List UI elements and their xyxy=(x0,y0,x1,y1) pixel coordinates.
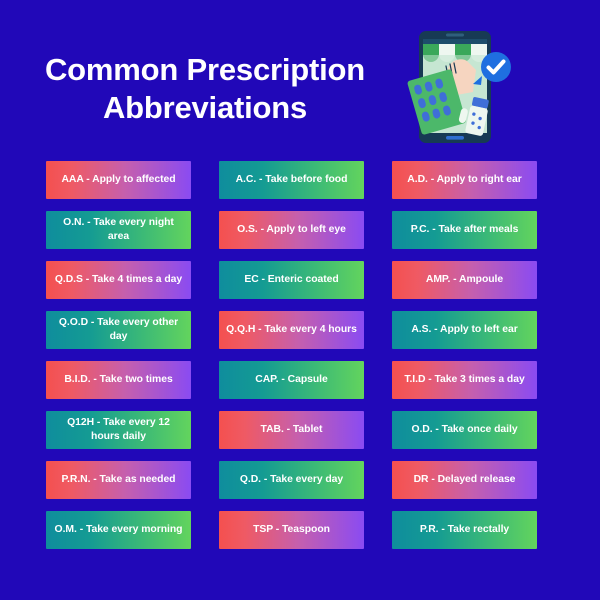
abbreviation-card-label: P.C. - Take after meals xyxy=(411,223,519,237)
abbreviation-card-label: B.I.D. - Take two times xyxy=(64,373,172,387)
abbreviation-card-grid: AAA - Apply to affectedA.C. - Take befor… xyxy=(46,161,554,549)
abbreviation-card-label: P.R.N. - Take as needed xyxy=(62,473,176,487)
abbreviation-card-label: Q.D.S - Take 4 times a day xyxy=(55,273,182,287)
abbreviation-card: P.C. - Take after meals xyxy=(392,211,537,249)
abbreviation-card-label: Q.Q.H - Take every 4 hours xyxy=(226,323,357,337)
abbreviation-card-label: Q12H - Take every 12 hours daily xyxy=(53,416,184,443)
abbreviation-card: Q12H - Take every 12 hours daily xyxy=(46,411,191,449)
abbreviation-card: O.N. - Take every night area xyxy=(46,211,191,249)
poster-header: Common Prescription Abbreviations xyxy=(0,34,410,144)
abbreviation-card: O.S. - Apply to left eye xyxy=(219,211,364,249)
abbreviation-card-label: TAB. - Tablet xyxy=(261,423,323,437)
prescription-abbreviations-poster: Common Prescription Abbreviations xyxy=(0,0,600,600)
abbreviation-card: Q.Q.H - Take every 4 hours xyxy=(219,311,364,349)
page-title: Common Prescription Abbreviations xyxy=(35,51,375,127)
abbreviation-card-label: P.R. - Take rectally xyxy=(420,523,509,537)
abbreviation-card-label: Q.O.D - Take every other day xyxy=(53,316,184,343)
abbreviation-card-label: TSP - Teaspoon xyxy=(253,523,330,537)
abbreviation-card: A.S. - Apply to left ear xyxy=(392,311,537,349)
abbreviation-card: DR - Delayed release xyxy=(392,461,537,499)
abbreviation-card-label: A.D. - Apply to right ear xyxy=(407,173,521,187)
abbreviation-card: AAA - Apply to affected xyxy=(46,161,191,199)
abbreviation-card: O.M. - Take every morning xyxy=(46,511,191,549)
abbreviation-card-label: O.M. - Take every morning xyxy=(55,523,183,537)
abbreviation-card: CAP. - Capsule xyxy=(219,361,364,399)
title-line-1: Common Prescription xyxy=(35,51,375,89)
abbreviation-card-label: O.S. - Apply to left eye xyxy=(237,223,346,237)
abbreviation-card-label: AMP. - Ampoule xyxy=(426,273,503,287)
abbreviation-card: Q.O.D - Take every other day xyxy=(46,311,191,349)
abbreviation-card-label: DR - Delayed release xyxy=(414,473,516,487)
abbreviation-card: TSP - Teaspoon xyxy=(219,511,364,549)
abbreviation-card-label: O.D. - Take once daily xyxy=(411,423,517,437)
abbreviation-card-label: A.C. - Take before food xyxy=(236,173,348,187)
abbreviation-card: B.I.D. - Take two times xyxy=(46,361,191,399)
abbreviation-card: Q.D. - Take every day xyxy=(219,461,364,499)
abbreviation-card-label: EC - Enteric coated xyxy=(244,273,338,287)
abbreviation-card: P.R. - Take rectally xyxy=(392,511,537,549)
abbreviation-card-label: Q.D. - Take every day xyxy=(240,473,343,487)
abbreviation-card: TAB. - Tablet xyxy=(219,411,364,449)
abbreviation-card-label: AAA - Apply to affected xyxy=(61,173,175,187)
abbreviation-card: AMP. - Ampoule xyxy=(392,261,537,299)
title-line-2: Abbreviations xyxy=(35,89,375,127)
abbreviation-card: A.C. - Take before food xyxy=(219,161,364,199)
abbreviation-card-label: CAP. - Capsule xyxy=(255,373,327,387)
abbreviation-card-label: A.S. - Apply to left ear xyxy=(411,323,517,337)
abbreviation-card-label: T.I.D - Take 3 times a day xyxy=(404,373,524,387)
abbreviation-card: O.D. - Take once daily xyxy=(392,411,537,449)
pharmacy-phone-illustration xyxy=(402,22,522,144)
abbreviation-card: Q.D.S - Take 4 times a day xyxy=(46,261,191,299)
abbreviation-card: P.R.N. - Take as needed xyxy=(46,461,191,499)
abbreviation-card: T.I.D - Take 3 times a day xyxy=(392,361,537,399)
abbreviation-card: A.D. - Apply to right ear xyxy=(392,161,537,199)
abbreviation-card-label: O.N. - Take every night area xyxy=(53,216,184,243)
abbreviation-card: EC - Enteric coated xyxy=(219,261,364,299)
